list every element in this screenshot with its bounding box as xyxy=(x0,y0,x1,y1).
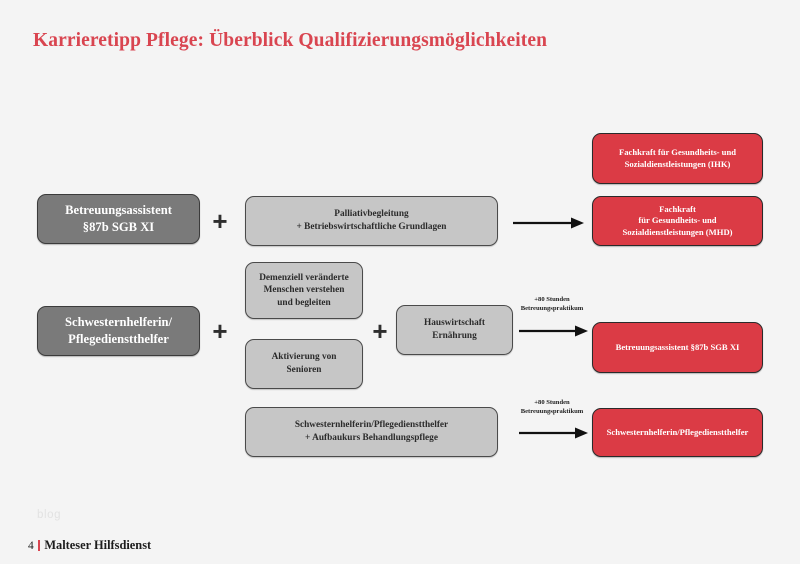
plus-operator-row2-a: + xyxy=(210,318,230,344)
plus-operator-row2-b: + xyxy=(370,318,390,344)
node-row2-result-text: Betreuungsassistent §87b SGB XI xyxy=(593,342,762,354)
slide-canvas: Karrieretipp Pflege: Überblick Qualifizi… xyxy=(0,0,800,564)
node-row1-result-mhd-line2: für Gesundheits- und xyxy=(601,215,754,227)
node-row1-module-line2: + Betriebswirtschaftliche Grundlagen xyxy=(254,221,489,234)
arrow-row2 xyxy=(519,324,589,338)
footer-separator-bar xyxy=(38,540,41,551)
node-row1-result-ihk-line1: Fachkraft für Gesundheits- und xyxy=(601,147,754,159)
node-row2-module-aktivierung-text: Aktivierung von Senioren xyxy=(246,351,362,376)
node-row2-base-line2: Pflegedienstthelfer xyxy=(46,331,191,348)
node-row2-module-hauswirtschaft-line2: Ernährung xyxy=(405,330,504,343)
arrow-label-row3-line2: Betreuungspraktikum xyxy=(508,408,596,417)
arrow-label-row3: +80 Stunden Betreuungspraktikum xyxy=(508,399,596,417)
node-row1-module-line1: Palliativbegleitung xyxy=(254,208,489,221)
node-row3-result-text: Schwesternhelferin/Pflegedienstthelfer xyxy=(593,427,762,439)
node-row1-result-mhd: Fachkraft für Gesundheits- und Sozialdie… xyxy=(592,196,763,246)
node-row3-result: Schwesternhelferin/Pflegedienstthelfer xyxy=(592,408,763,457)
node-row2-module-demenz-line2: Menschen verstehen xyxy=(254,284,354,297)
node-row1-result-mhd-line1: Fachkraft xyxy=(601,204,754,216)
node-row2-base-text: Schwesternhelferin/ Pflegedienstthelfer xyxy=(38,314,199,348)
arrow-label-row2-line2: Betreuungspraktikum xyxy=(508,305,596,314)
arrow-label-row3-line1: +80 Stunden xyxy=(508,399,596,408)
node-row2-module-hauswirtschaft-line1: Hauswirtschaft xyxy=(405,317,504,330)
node-row2-base-line1: Schwesternhelferin/ xyxy=(46,314,191,331)
node-row1-module-text: Palliativbegleitung + Betriebswirtschaft… xyxy=(246,208,497,233)
node-row1-result-mhd-text: Fachkraft für Gesundheits- und Sozialdie… xyxy=(593,204,762,239)
node-row3-module-text: Schwesternhelferin/Pflegedienstthelfer +… xyxy=(246,419,497,444)
page-number: 4 xyxy=(28,540,34,552)
node-row2-module-demenz: Demenziell veränderte Menschen verstehen… xyxy=(245,262,363,319)
node-row2-result: Betreuungsassistent §87b SGB XI xyxy=(592,322,763,373)
arrow-label-row2: +80 Stunden Betreuungspraktikum xyxy=(508,296,596,314)
node-row2-base: Schwesternhelferin/ Pflegedienstthelfer xyxy=(37,306,200,356)
blog-watermark: blog xyxy=(37,509,61,521)
node-row3-module-line2: + Aufbaukurs Behandlungspflege xyxy=(254,432,489,445)
node-row1-base: Betreuungsassistent §87b SGB XI xyxy=(37,194,200,244)
node-row2-module-aktivierung: Aktivierung von Senioren xyxy=(245,339,363,389)
page-title: Karrieretipp Pflege: Überblick Qualifizi… xyxy=(33,30,547,52)
node-row3-module-line1: Schwesternhelferin/Pflegedienstthelfer xyxy=(254,419,489,432)
node-row2-module-demenz-line1: Demenziell veränderte xyxy=(254,272,354,285)
node-row1-result-ihk: Fachkraft für Gesundheits- und Sozialdie… xyxy=(592,133,763,184)
node-row1-result-ihk-line2: Sozialdienstleistungen (IHK) xyxy=(601,159,754,171)
arrow-row3 xyxy=(519,426,589,440)
node-row1-base-line1: Betreuungsassistent xyxy=(46,202,191,219)
node-row1-base-line2: §87b SGB XI xyxy=(46,219,191,236)
node-row1-result-ihk-text: Fachkraft für Gesundheits- und Sozialdie… xyxy=(593,147,762,170)
node-row1-base-text: Betreuungsassistent §87b SGB XI xyxy=(38,202,199,236)
node-row2-module-hauswirtschaft: Hauswirtschaft Ernährung xyxy=(396,305,513,355)
node-row2-module-demenz-text: Demenziell veränderte Menschen verstehen… xyxy=(246,272,362,310)
arrow-row1 xyxy=(513,216,585,230)
node-row1-result-mhd-line3: Sozialdienstleistungen (MHD) xyxy=(601,227,754,239)
slide-footer: 4 Malteser Hilfsdienst xyxy=(28,538,151,553)
plus-operator-row1: + xyxy=(210,208,230,234)
node-row3-module: Schwesternhelferin/Pflegedienstthelfer +… xyxy=(245,407,498,457)
node-row2-module-demenz-line3: und begleiten xyxy=(254,297,354,310)
arrow-label-row2-line1: +80 Stunden xyxy=(508,296,596,305)
node-row2-module-hauswirtschaft-text: Hauswirtschaft Ernährung xyxy=(397,317,512,342)
node-row1-module: Palliativbegleitung + Betriebswirtschaft… xyxy=(245,196,498,246)
footer-brand: Malteser Hilfsdienst xyxy=(44,538,151,553)
